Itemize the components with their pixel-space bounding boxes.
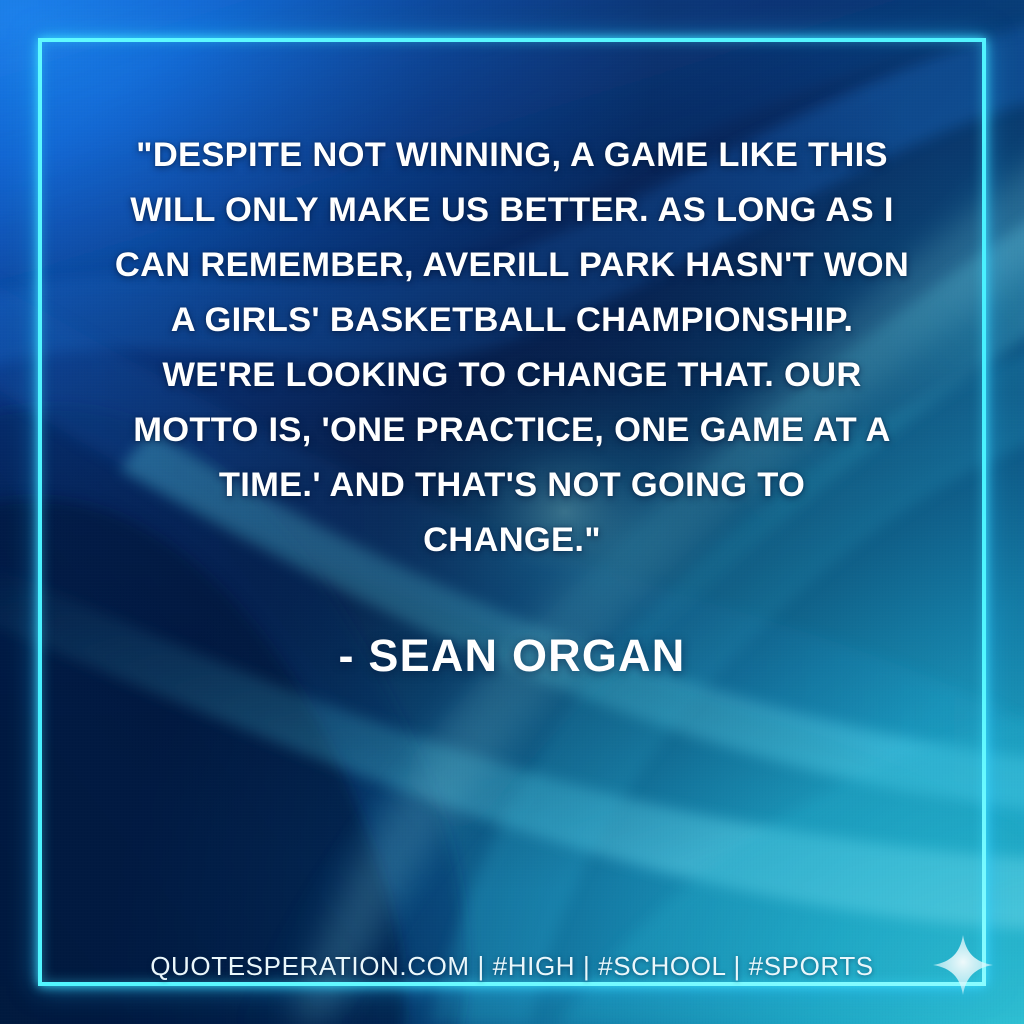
quote-line: "DESPITE NOT WINNING, A GAME LIKE THIS — [72, 128, 952, 183]
quote-line: CHANGE." — [72, 513, 952, 568]
poster-content: "DESPITE NOT WINNING, A GAME LIKE THIS W… — [0, 0, 1024, 1024]
quote-text: "DESPITE NOT WINNING, A GAME LIKE THIS W… — [72, 0, 952, 682]
quote-line: WILL ONLY MAKE US BETTER. AS LONG AS I — [72, 183, 952, 238]
quote-attribution: - SEAN ORGAN — [72, 630, 952, 682]
quote-line: WE'RE LOOKING TO CHANGE THAT. OUR — [72, 348, 952, 403]
footer-bar: QUOTESPERATION.COM | #HIGH | #SCHOOL | #… — [0, 951, 1024, 982]
quote-poster: "DESPITE NOT WINNING, A GAME LIKE THIS W… — [0, 0, 1024, 1024]
quote-line: CAN REMEMBER, AVERILL PARK HASN'T WON — [72, 238, 952, 293]
quote-line: TIME.' AND THAT'S NOT GOING TO — [72, 458, 952, 513]
footer-credit-text: QUOTESPERATION.COM | #HIGH | #SCHOOL | #… — [150, 951, 874, 982]
four-pointed-star-icon — [932, 934, 994, 996]
quote-line: MOTTO IS, 'ONE PRACTICE, ONE GAME AT A — [72, 403, 952, 458]
quote-line: A GIRLS' BASKETBALL CHAMPIONSHIP. — [72, 293, 952, 348]
